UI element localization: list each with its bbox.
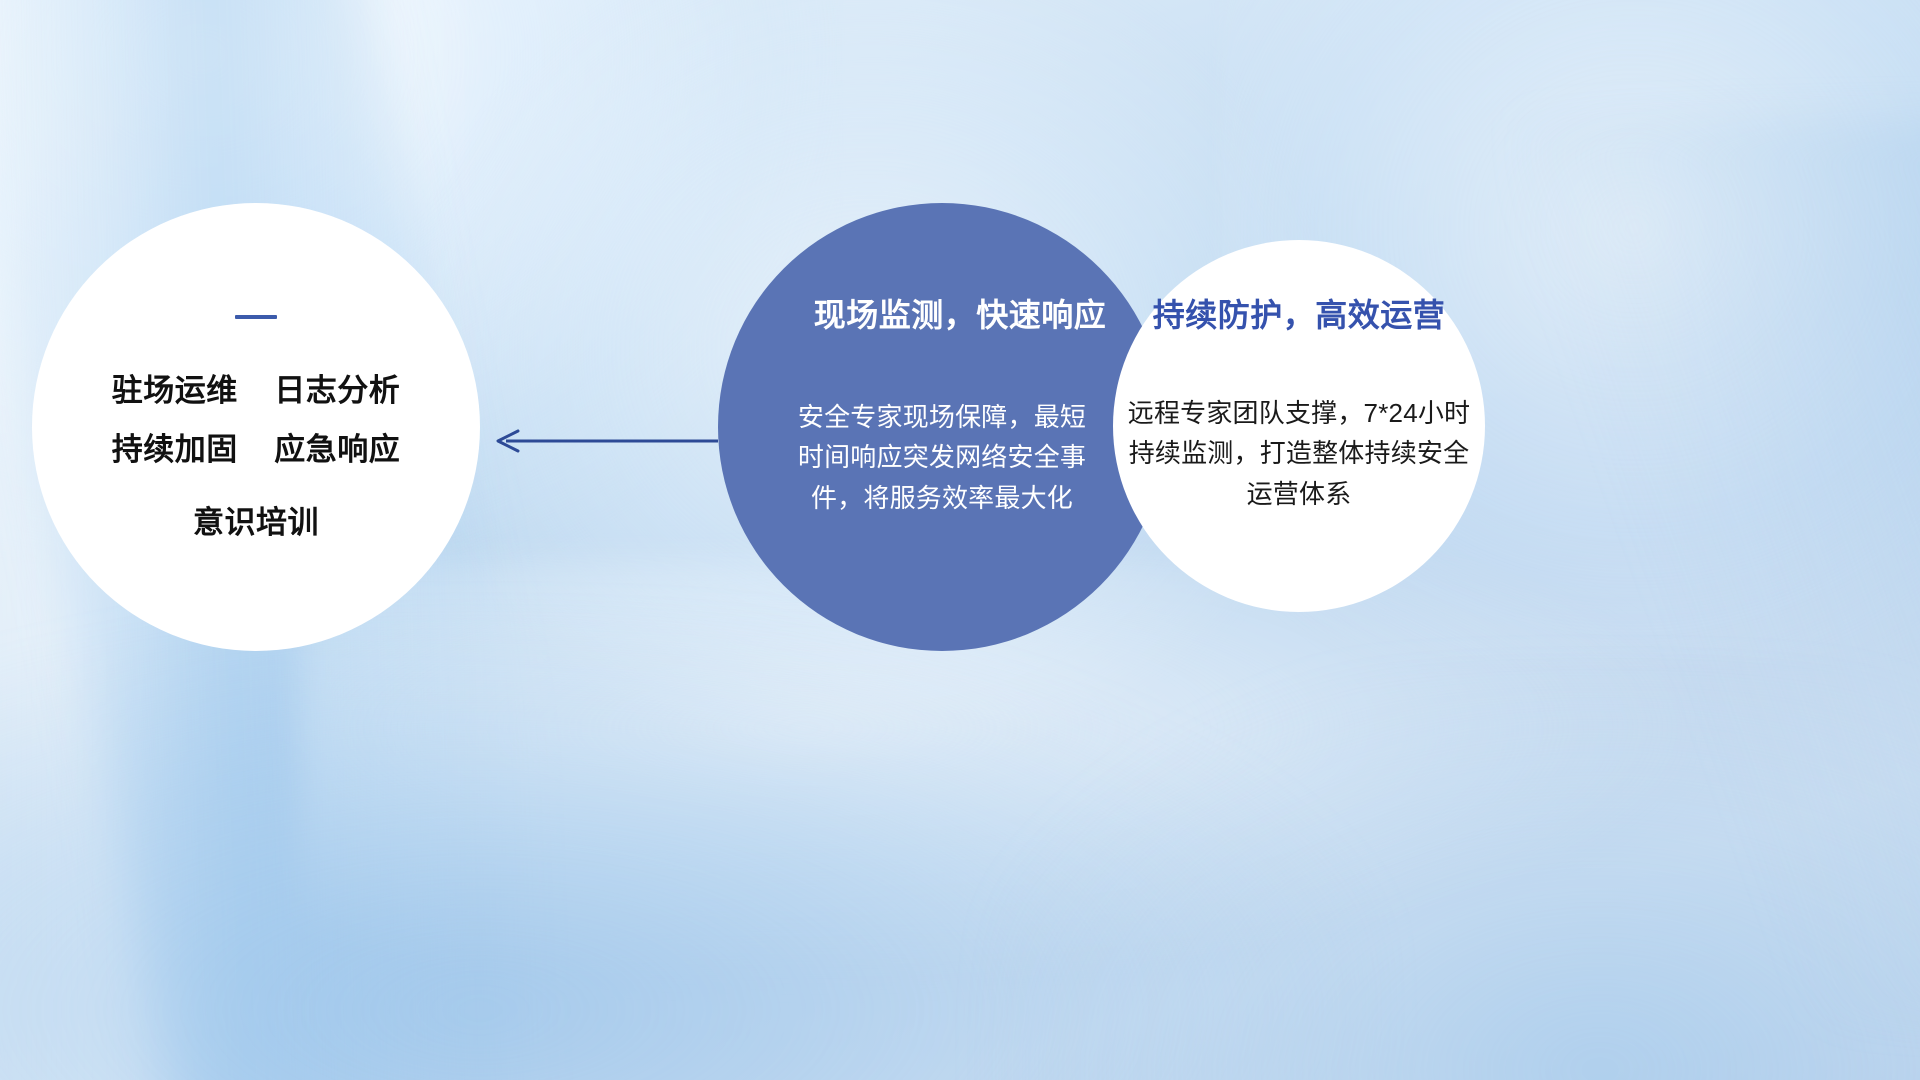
background-vignette-right [1520, 120, 1920, 1020]
middle-circle-content: 现场监测，快速响应 安全专家现场保障，最短时间响应突发网络安全事件，将服务效率最… [718, 203, 1166, 651]
right-circle-title: 持续防护，高效运营 [1153, 299, 1446, 331]
middle-circle-title: 现场监测，快速响应 [814, 299, 1107, 331]
left-keyword-line-1: 驻场运维 日志分析 [112, 375, 400, 406]
left-circle-content: 驻场运维 日志分析 持续加固 应急响应 意识培训 [32, 203, 480, 651]
left-keyword-line-2: 持续加固 应急响应 [112, 434, 400, 465]
right-circle-content: 持续防护，高效运营 远程专家团队支撑，7*24小时持续监测，打造整体持续安全运营… [1113, 240, 1485, 612]
slide-canvas: 驻场运维 日志分析 持续加固 应急响应 意识培训 现场监测，快速响应 安全专家现… [0, 0, 1920, 1080]
left-keyword-line-3: 意识培训 [193, 507, 319, 538]
divider-dash-icon [235, 315, 277, 319]
connector-arrow [492, 424, 718, 458]
middle-circle-body: 安全专家现场保障，最短时间响应突发网络安全事件，将服务效率最大化 [792, 397, 1092, 518]
right-circle-body: 远程专家团队支撑，7*24小时持续监测，打造整体持续安全运营体系 [1118, 393, 1480, 514]
left-arrow-icon [492, 424, 718, 458]
